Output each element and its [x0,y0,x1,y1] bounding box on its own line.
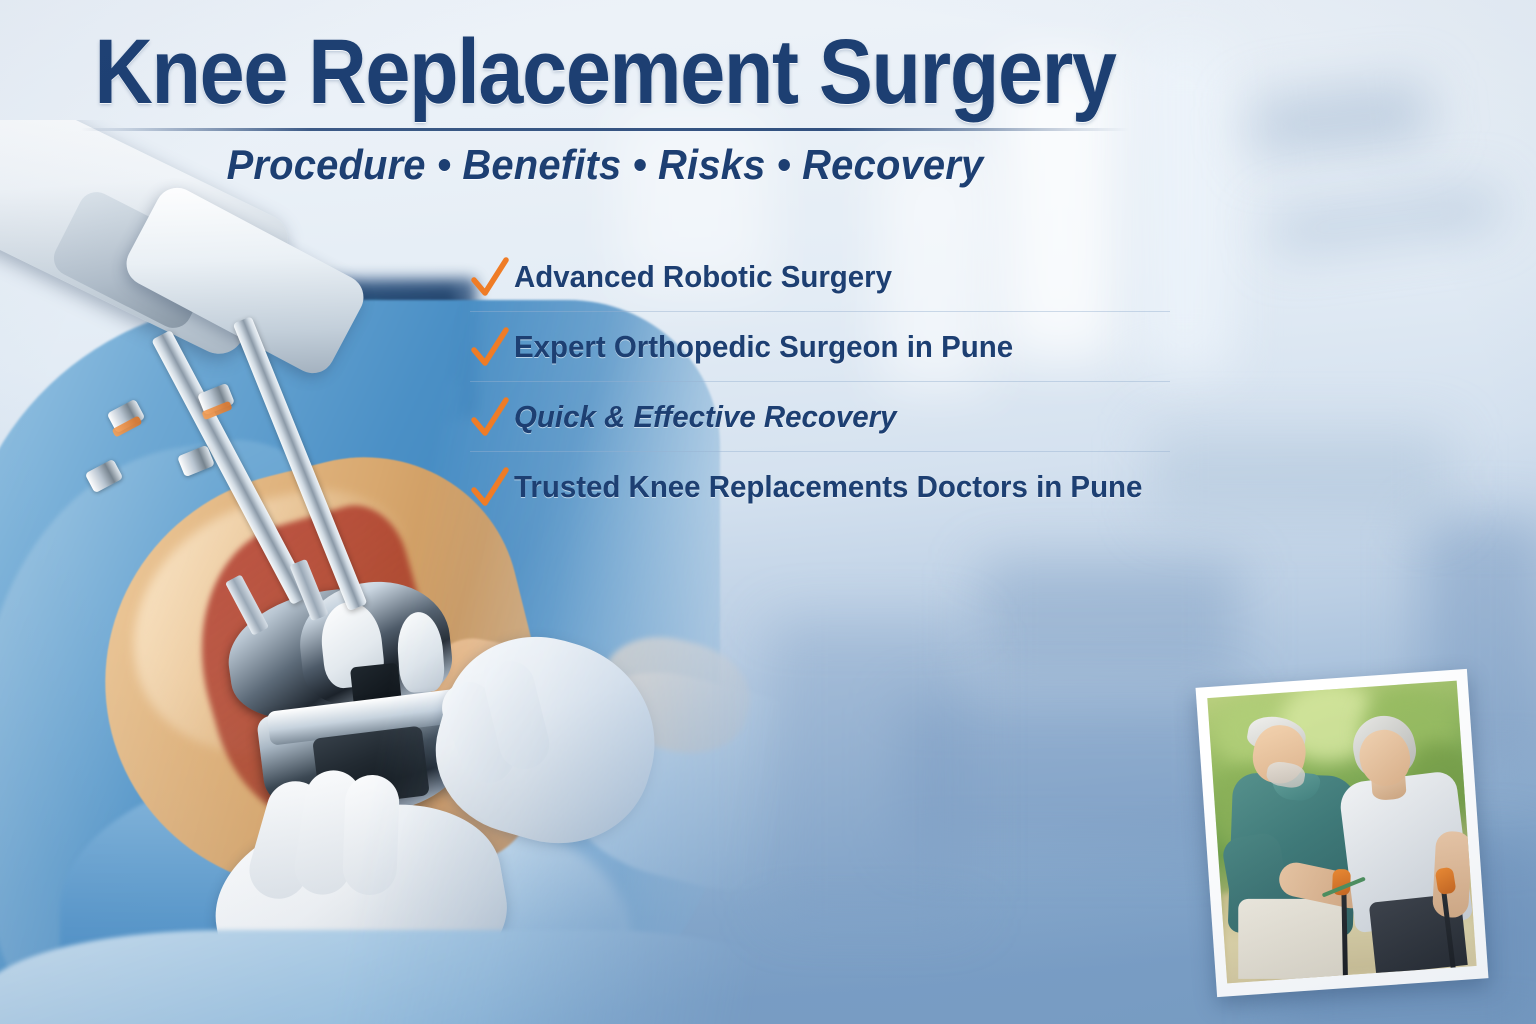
feature-label: Quick & Effective Recovery [514,399,896,435]
elderly-man-trousers [1238,899,1343,979]
background-equipment-shape [1150,430,1450,520]
feature-label: Expert Orthopedic Surgeon in Pune [514,329,1013,365]
check-icon [470,464,510,510]
background-equipment-shape [1247,81,1432,159]
check-icon [470,254,510,300]
check-icon [470,324,510,370]
feature-label: Trusted Knee Replacements Doctors in Pun… [514,469,1142,505]
feature-item: Trusted Knee Replacements Doctors in Pun… [470,452,1170,522]
page-subtitle: Procedure • Benefits • Risks • Recovery [30,141,1180,189]
background-equipment-shape [770,620,970,920]
surgical-drape-lower [0,930,780,1024]
background-equipment-shape [1268,186,1501,254]
feature-item: Advanced Robotic Surgery [470,242,1170,312]
glove-finger [342,774,400,896]
banner-header: Knee Replacement Surgery Procedure • Ben… [0,0,1210,189]
feature-list: Advanced Robotic Surgery Expert Orthoped… [470,242,1170,522]
check-icon [470,394,510,440]
feature-item: Quick & Effective Recovery [470,382,1170,452]
title-divider [81,128,1129,131]
feature-item: Expert Orthopedic Surgeon in Pune [470,312,1170,382]
page-title: Knee Replacement Surgery [73,0,1138,118]
inset-photo-content [1207,681,1476,984]
senior-couple-inset-photo [1196,669,1489,997]
feature-label: Advanced Robotic Surgery [514,259,892,295]
knee-replacement-surgery-banner: Knee Replacement Surgery Procedure • Ben… [0,0,1536,1024]
background-equipment-shape [980,560,1240,680]
